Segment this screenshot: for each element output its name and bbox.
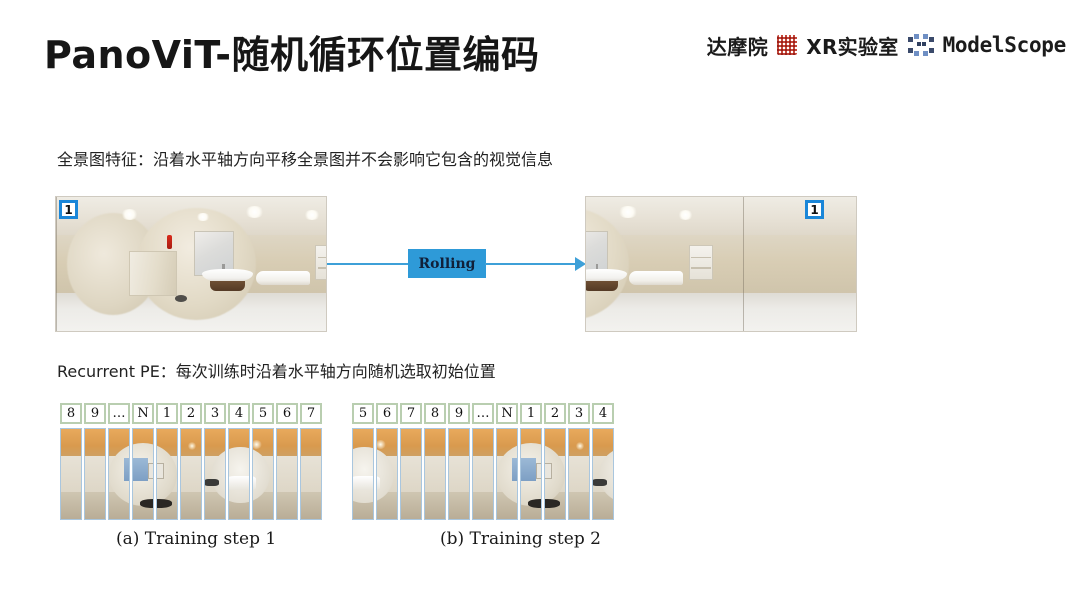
panorama-slice: [60, 428, 82, 520]
shelf-unit: [315, 245, 327, 280]
position-token-cell[interactable]: N: [496, 403, 518, 424]
slide-root: PanoViT-随机循环位置编码 达摩院 XR实验室 ModelScope 全景…: [0, 0, 1080, 607]
ceiling-light-1: [121, 209, 138, 220]
recurrent-pe-text: Recurrent PE：每次训练时沿着水平轴方向随机选取初始位置: [57, 358, 496, 382]
position-token-cell[interactable]: 1: [520, 403, 542, 424]
panorama-slice: [496, 428, 518, 520]
token-row-a: 89…N1234567: [60, 403, 322, 424]
vanity-cabinet: [210, 281, 245, 290]
slice-image: [449, 429, 470, 519]
ceiling-light-4: [304, 210, 319, 219]
slice-image: [156, 429, 178, 519]
floor-region: [585, 293, 857, 331]
panorama-slice: [400, 428, 422, 520]
arrow-segment-right: [485, 263, 577, 265]
position-token-cell[interactable]: 2: [180, 403, 202, 424]
panorama-feature-text: 全景图特征：沿着水平轴方向平移全景图并不会影响它包含的视觉信息: [57, 146, 553, 170]
panorama-slice: [592, 428, 614, 520]
slice-image: [61, 429, 82, 519]
slice-image: [300, 429, 322, 519]
floor-object: [175, 295, 187, 302]
damo-seal-icon: [776, 34, 798, 56]
vanity-cabinet: [585, 281, 618, 290]
slice-image: [84, 429, 106, 519]
panorama-slice: [276, 428, 298, 520]
door-panel: [129, 251, 178, 297]
pano-seam: [56, 197, 57, 331]
bathtub: [629, 271, 683, 286]
bathtub: [256, 271, 310, 286]
position-token-cell[interactable]: 7: [300, 403, 322, 424]
ceiling-light-4: [678, 210, 693, 219]
rolling-button[interactable]: Rolling: [408, 249, 486, 278]
panorama-scene: [56, 197, 327, 331]
position-marker-right: 1: [805, 200, 824, 219]
panorama-slice: [424, 428, 446, 520]
panorama-slice: [228, 428, 250, 520]
position-token-cell[interactable]: 1: [156, 403, 178, 424]
modelscope-label: ModelScope: [943, 33, 1066, 57]
position-token-cell[interactable]: 2: [544, 403, 566, 424]
pano-seam: [743, 197, 744, 331]
shelf-unit: [689, 245, 713, 280]
position-token-cell[interactable]: 5: [352, 403, 374, 424]
slice-image: [228, 429, 250, 519]
panorama-slice: [352, 428, 374, 520]
training-step-1-strip: 89…N1234567: [60, 403, 322, 520]
position-token-cell[interactable]: N: [132, 403, 154, 424]
slice-image: [276, 429, 298, 519]
arrow-segment-left: [327, 263, 409, 265]
brand-bar: 达摩院 XR实验室 ModelScope: [707, 30, 1066, 60]
panorama-slice: [568, 428, 590, 520]
position-token-cell[interactable]: 4: [592, 403, 614, 424]
position-token-cell[interactable]: 3: [204, 403, 226, 424]
position-token-cell[interactable]: …: [108, 403, 130, 424]
position-token-cell[interactable]: 8: [60, 403, 82, 424]
panorama-slice: [252, 428, 274, 520]
slice-image: [400, 429, 422, 519]
position-token-cell[interactable]: 4: [228, 403, 250, 424]
slice-row-b: [352, 428, 614, 520]
panorama-original: [55, 196, 327, 332]
caption-training-step-2: (b) Training step 2: [440, 529, 601, 549]
slice-image: [424, 429, 446, 519]
modelscope-logo-icon: [907, 33, 935, 57]
position-token-cell[interactable]: 8: [424, 403, 446, 424]
slice-image: [568, 429, 590, 519]
training-step-2-strip: 56789…N1234: [352, 403, 614, 520]
token-row-b: 56789…N1234: [352, 403, 614, 424]
slice-image: [496, 429, 518, 519]
panorama-slice: [544, 428, 566, 520]
red-accent: [167, 235, 172, 250]
slice-row-a: [60, 428, 322, 520]
panorama-slice: [132, 428, 154, 520]
damo-academy-label: 达摩院: [707, 31, 769, 60]
panorama-slice: [108, 428, 130, 520]
slice-image: [592, 429, 614, 519]
panorama-slice: [204, 428, 226, 520]
position-token-cell[interactable]: 5: [252, 403, 274, 424]
page-title: PanoViT-随机循环位置编码: [44, 24, 540, 79]
xr-lab-label: XR实验室: [806, 31, 898, 60]
slice-image: [352, 429, 374, 519]
position-marker-left: 1: [59, 200, 78, 219]
panorama-slice: [520, 428, 542, 520]
slice-image: [520, 429, 542, 519]
slice-image: [252, 429, 274, 519]
panorama-slice: [448, 428, 470, 520]
position-token-cell[interactable]: 9: [84, 403, 106, 424]
panorama-slice: [300, 428, 322, 520]
slice-image: [204, 429, 226, 519]
panorama-slice: [156, 428, 178, 520]
slice-image: [376, 429, 398, 519]
panorama-slice: [472, 428, 494, 520]
position-token-cell[interactable]: 9: [448, 403, 470, 424]
slice-image: [108, 429, 130, 519]
panorama-slice: [180, 428, 202, 520]
position-token-cell[interactable]: 6: [276, 403, 298, 424]
position-token-cell[interactable]: 7: [400, 403, 422, 424]
panorama-slice: [84, 428, 106, 520]
position-token-cell[interactable]: 3: [568, 403, 590, 424]
position-token-cell[interactable]: …: [472, 403, 494, 424]
slice-image: [180, 429, 202, 519]
panorama-slice: [376, 428, 398, 520]
position-token-cell[interactable]: 6: [376, 403, 398, 424]
slice-image: [472, 429, 494, 519]
slice-image: [132, 429, 154, 519]
slice-image: [544, 429, 566, 519]
caption-training-step-1: (a) Training step 1: [116, 529, 276, 549]
